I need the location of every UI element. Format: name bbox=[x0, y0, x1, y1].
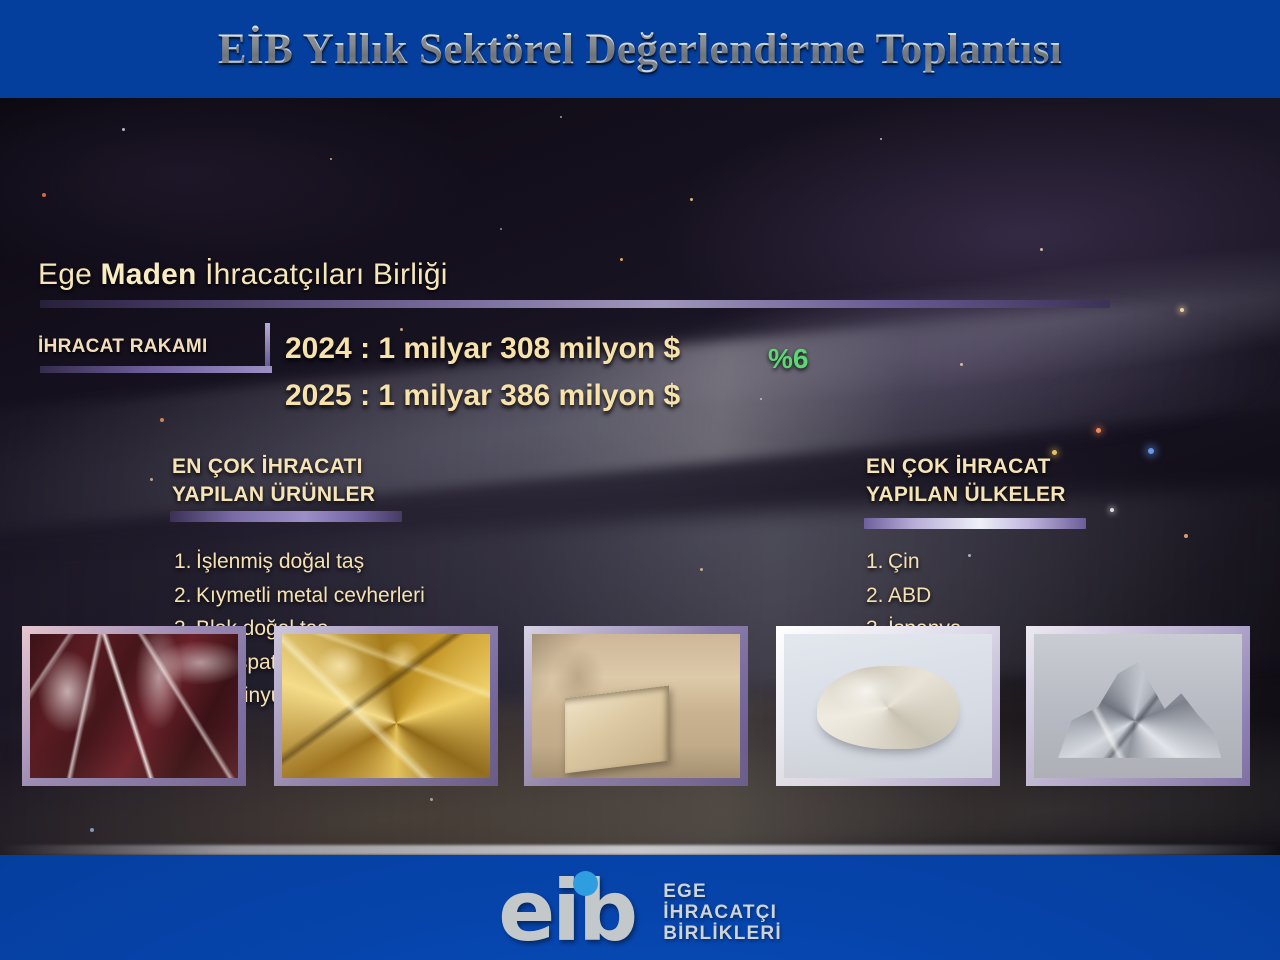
marble-texture bbox=[30, 634, 238, 778]
dark-red-marble-photo bbox=[22, 626, 246, 786]
organization-title-divider bbox=[40, 300, 1110, 308]
sparkle-dot bbox=[1110, 508, 1114, 512]
list-item-label: İşlenmiş doğal taş bbox=[196, 550, 364, 573]
organization-title: Ege Maden İhracatçıları Birliği bbox=[38, 258, 448, 292]
photo-strip bbox=[0, 626, 1280, 801]
sparkle-dot bbox=[690, 198, 693, 201]
list-item-number: 2. bbox=[174, 579, 196, 613]
eib-wordmark-text: eib bbox=[498, 862, 635, 960]
list-item: 2.ABD bbox=[866, 579, 962, 613]
sparkle-dot bbox=[330, 158, 332, 160]
sparkle-dot bbox=[700, 568, 703, 571]
page-title: EİB Yıllık Sektörel Değerlendirme Toplan… bbox=[218, 25, 1062, 74]
eib-wordmark: eib bbox=[498, 872, 650, 950]
eib-logo-line-1: EGE bbox=[663, 881, 782, 902]
list-item-label: Çin bbox=[888, 550, 920, 573]
sparkle-dot bbox=[1148, 448, 1154, 454]
export-figure-2024: 2024 : 1 milyar 308 milyon $ bbox=[285, 332, 680, 366]
org-title-prefix: Ege bbox=[38, 258, 101, 291]
eib-logo-subtitle: EGE İHRACATÇI BİRLİKLERİ bbox=[663, 881, 782, 944]
panel-bottom-light-streak bbox=[0, 845, 1280, 855]
sparkle-dot bbox=[968, 554, 971, 557]
content-panel: Ege Maden İhracatçıları Birliği İHRACAT … bbox=[0, 98, 1280, 855]
presentation-slide: EİB Yıllık Sektörel Değerlendirme Toplan… bbox=[0, 0, 1280, 960]
export-figure-label-accent-vertical bbox=[265, 323, 270, 371]
sparkle-dot bbox=[880, 138, 882, 140]
eib-logo-line-2: İHRACATÇI bbox=[663, 902, 782, 923]
list-item-number: 1. bbox=[866, 545, 888, 579]
white-feldspar-rock-photo bbox=[776, 626, 1000, 786]
list-item-label: ABD bbox=[888, 584, 931, 607]
list-item: 1.İşlenmiş doğal taş bbox=[174, 545, 425, 579]
travertine-stone-blocks-photo bbox=[524, 626, 748, 786]
decorative-glow-purple bbox=[420, 218, 1280, 518]
sparkle-dot bbox=[500, 228, 502, 230]
gold-crystal-texture bbox=[282, 634, 490, 778]
aluminium-ore-crystals-photo bbox=[1026, 626, 1250, 786]
countries-column-divider bbox=[864, 518, 1086, 529]
org-title-strong: Maden bbox=[101, 258, 197, 291]
export-figure-2025: 2025 : 1 milyar 386 milyon $ bbox=[285, 379, 680, 413]
sparkle-dot bbox=[1184, 534, 1188, 538]
export-change-percentage: %6 bbox=[768, 343, 808, 375]
list-item-number: 1. bbox=[174, 545, 196, 579]
list-item: 1.Çin bbox=[866, 545, 962, 579]
eib-logo: eib EGE İHRACATÇI BİRLİKLERİ bbox=[0, 862, 1280, 960]
sparkle-dot bbox=[1096, 428, 1101, 433]
sparkle-dot bbox=[560, 116, 562, 118]
export-figure-label: İHRACAT RAKAMI bbox=[38, 336, 208, 358]
gold-pyrite-crystals-photo bbox=[274, 626, 498, 786]
sparkle-dot bbox=[160, 418, 164, 422]
sparkle-dot bbox=[90, 828, 94, 832]
export-figure-label-accent-underline bbox=[40, 366, 272, 373]
sparkle-dot bbox=[122, 128, 125, 131]
sparkle-dot bbox=[1180, 308, 1184, 312]
list-item-label: Kıymetli metal cevherleri bbox=[196, 584, 425, 607]
list-item-number: 2. bbox=[866, 579, 888, 613]
eib-logo-line-3: BİRLİKLERİ bbox=[663, 923, 782, 944]
org-title-suffix: İhracatçıları Birliği bbox=[197, 258, 448, 291]
list-item: 2.Kıymetli metal cevherleri bbox=[174, 579, 425, 613]
feldspar-texture bbox=[784, 634, 992, 778]
products-column-heading: EN ÇOK İHRACATI YAPILAN ÜRÜNLER bbox=[172, 453, 375, 510]
aluminium-ore-texture bbox=[1034, 634, 1242, 778]
sparkle-dot bbox=[760, 398, 762, 400]
countries-column-heading: EN ÇOK İHRACAT YAPILAN ÜLKELER bbox=[866, 453, 1066, 510]
sparkle-dot bbox=[1040, 248, 1043, 251]
sparkle-dot bbox=[42, 193, 46, 197]
sparkle-dot bbox=[150, 478, 153, 481]
sparkle-dot bbox=[960, 363, 963, 366]
sparkle-dot bbox=[620, 258, 623, 261]
travertine-texture bbox=[532, 634, 740, 778]
slide-title-bar: EİB Yıllık Sektörel Değerlendirme Toplan… bbox=[0, 0, 1280, 98]
sparkle-dot bbox=[400, 328, 403, 331]
products-column-divider bbox=[170, 511, 402, 522]
